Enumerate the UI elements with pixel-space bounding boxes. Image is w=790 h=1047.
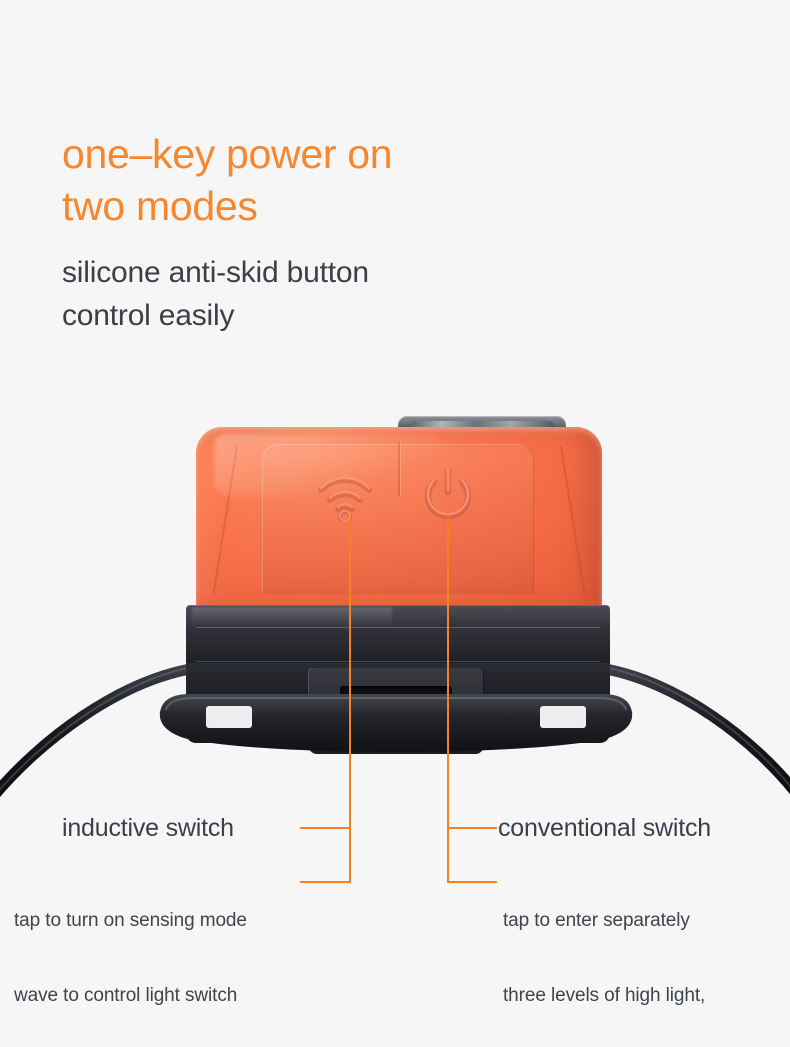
headline: one–key power on two modes — [62, 128, 582, 233]
connector-stub-inductive-title — [300, 827, 351, 829]
product-photo-headlamp — [0, 380, 790, 810]
callout-description-conventional: tap to enter separately three levels of … — [503, 858, 718, 1047]
headline-line-2: two modes — [62, 180, 582, 232]
callout-title-conventional: conventional switch — [498, 814, 711, 843]
subheadline-line-2: control easily — [62, 295, 582, 338]
connector-line-inductive — [349, 520, 351, 828]
callout-desc-line: wave to control light switch — [14, 983, 247, 1008]
subheadline-line-1: silicone anti-skid button — [62, 252, 582, 295]
light-band-seam-top — [196, 627, 600, 628]
callout-desc-line: tap to turn on sensing mode — [14, 908, 247, 933]
headband-mount-bracket — [150, 630, 642, 770]
product-infographic: one–key power on two modes silicone anti… — [0, 0, 790, 1047]
connector-stub-inductive-desc — [300, 881, 351, 883]
subheadline: silicone anti-skid button control easily — [62, 252, 582, 337]
connector-stub-conventional-desc — [449, 881, 497, 883]
wifi-sensor-icon — [313, 468, 377, 522]
connector-stub-conventional-title — [449, 827, 497, 829]
callout-desc-line: three levels of high light, — [503, 983, 718, 1008]
callout-desc-line: tap to enter separately — [503, 908, 718, 933]
light-band-highlight — [192, 607, 392, 629]
headline-line-1: one–key power on — [62, 128, 582, 180]
callout-description-inductive: tap to turn on sensing mode wave to cont… — [14, 858, 247, 1047]
connector-line-conventional — [447, 518, 449, 880]
connector-bracket-inductive — [349, 827, 351, 883]
connector-bracket-conventional — [447, 827, 449, 883]
callout-title-inductive: inductive switch — [62, 814, 234, 843]
